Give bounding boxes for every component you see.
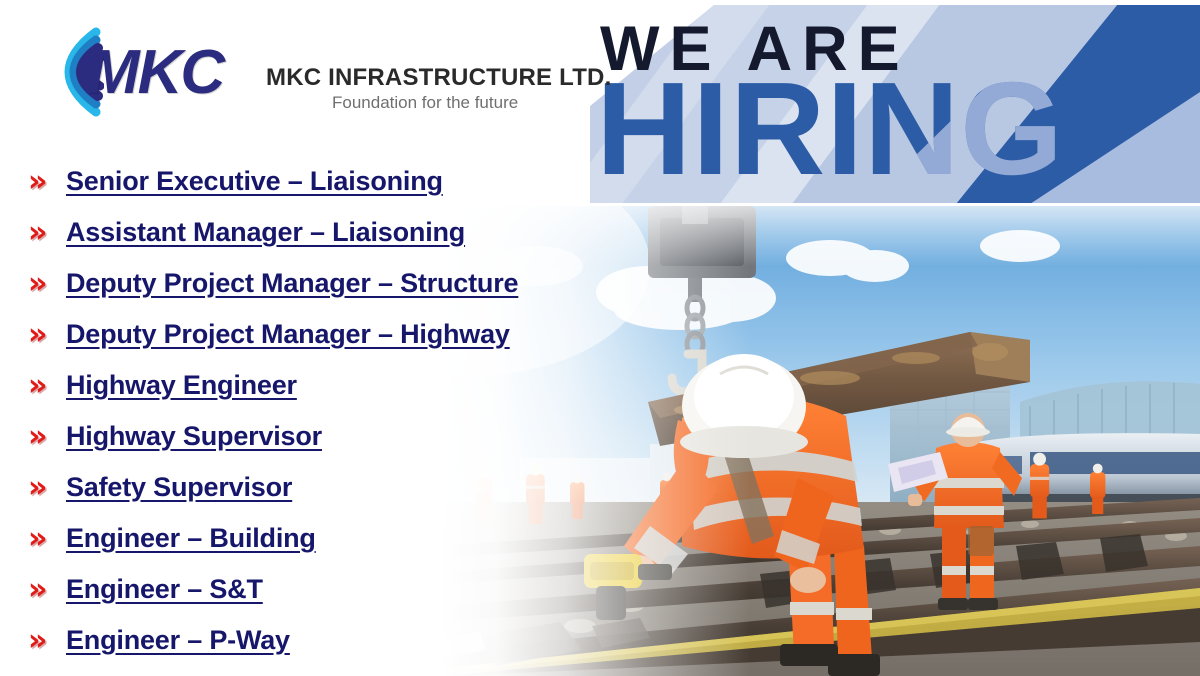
job-title[interactable]: Safety Supervisor xyxy=(66,472,292,503)
list-item[interactable]: » Engineer – Building xyxy=(22,513,642,564)
hiring-poster: WE ARE HIRING HIRING xyxy=(0,0,1200,676)
job-title[interactable]: Engineer – S&T xyxy=(66,574,263,605)
list-item[interactable]: » Highway Supervisor xyxy=(22,411,642,462)
list-item[interactable]: » Assistant Manager – Liaisoning xyxy=(22,207,642,258)
company-tagline: Foundation for the future xyxy=(332,93,518,113)
list-item[interactable]: » Deputy Project Manager – Structure xyxy=(22,258,642,309)
list-item[interactable]: » Highway Engineer xyxy=(22,360,642,411)
double-chevron-icon: » xyxy=(22,575,66,605)
job-title[interactable]: Highway Supervisor xyxy=(66,421,322,452)
double-chevron-icon: » xyxy=(22,167,66,197)
job-title[interactable]: Deputy Project Manager – Structure xyxy=(66,268,518,299)
double-chevron-icon: » xyxy=(22,218,66,248)
double-chevron-icon: » xyxy=(22,269,66,299)
double-chevron-icon: » xyxy=(22,320,66,350)
company-name: MKC INFRASTRUCTURE LTD. xyxy=(266,64,611,92)
list-item[interactable]: » Safety Supervisor xyxy=(22,462,642,513)
job-openings-list: » Senior Executive – Liaisoning » Assist… xyxy=(22,156,642,666)
job-title[interactable]: Senior Executive – Liaisoning xyxy=(66,166,443,197)
list-item[interactable]: » Senior Executive – Liaisoning xyxy=(22,156,642,207)
job-title[interactable]: Highway Engineer xyxy=(66,370,297,401)
job-title[interactable]: Deputy Project Manager – Highway xyxy=(66,319,510,350)
list-item[interactable]: » Engineer – S&T xyxy=(22,564,642,615)
double-chevron-icon: » xyxy=(22,371,66,401)
double-chevron-icon: » xyxy=(22,422,66,452)
logo-wordmark: MKC xyxy=(88,42,223,104)
job-title[interactable]: Assistant Manager – Liaisoning xyxy=(66,217,465,248)
double-chevron-icon: » xyxy=(22,626,66,656)
double-chevron-icon: » xyxy=(22,473,66,503)
list-item[interactable]: » Engineer – P-Way xyxy=(22,615,642,666)
job-title[interactable]: Engineer – P-Way xyxy=(66,625,290,656)
list-item[interactable]: » Deputy Project Manager – Highway xyxy=(22,309,642,360)
company-logo: MKC MKC INFRASTRUCTURE LTD. Foundation f… xyxy=(26,22,616,122)
double-chevron-icon: » xyxy=(22,524,66,554)
banner-top-white-strip xyxy=(470,0,1200,5)
job-title[interactable]: Engineer – Building xyxy=(66,523,316,554)
